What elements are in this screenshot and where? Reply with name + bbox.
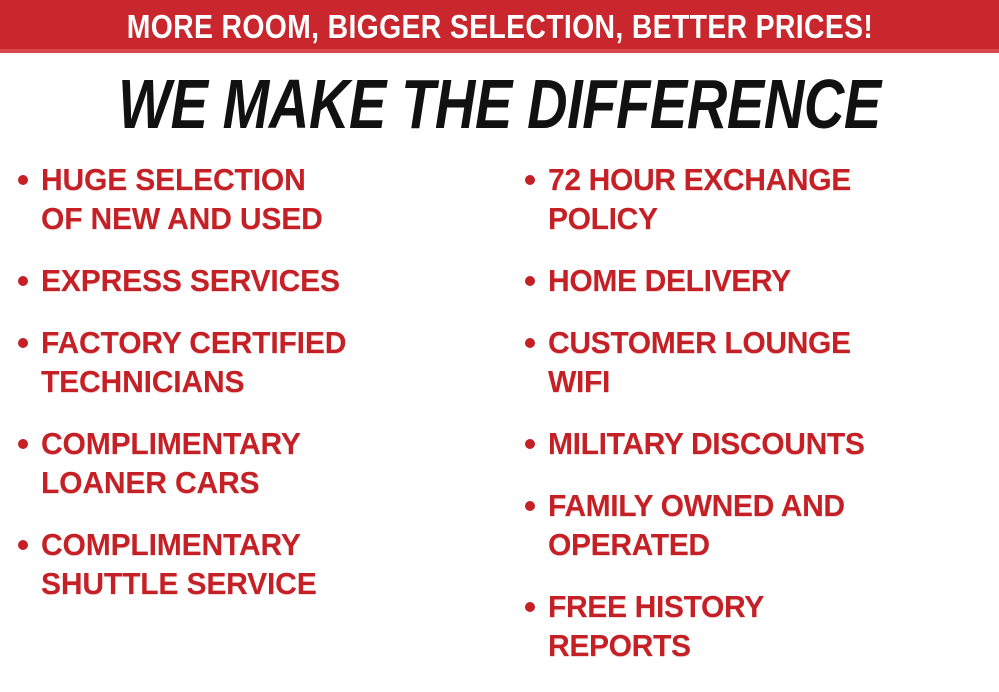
page-title: WE MAKE THE DIFFERENCE — [100, 69, 899, 139]
list-item-label: HUGE SELECTION OF NEW AND USED — [41, 160, 323, 238]
round-bullet-icon — [525, 501, 535, 511]
list-item: HUGE SELECTION OF NEW AND USED — [18, 160, 513, 238]
list-item-label: 72 HOUR EXCHANGE POLICY — [548, 160, 851, 238]
promotional-banner: MORE ROOM, BIGGER SELECTION, BETTER PRIC… — [0, 0, 999, 692]
list-item-label: CUSTOMER LOUNGE WIFI — [548, 323, 851, 401]
round-bullet-icon — [18, 276, 28, 286]
round-bullet-icon — [18, 439, 28, 449]
list-item-label: FAMILY OWNED AND OPERATED — [548, 486, 845, 564]
list-item-label: COMPLIMENTARY LOANER CARS — [41, 424, 301, 502]
round-bullet-icon — [18, 540, 28, 550]
list-item: HOME DELIVERY — [525, 261, 999, 300]
list-item: CUSTOMER LOUNGE WIFI — [525, 323, 999, 401]
list-item: COMPLIMENTARY LOANER CARS — [18, 424, 513, 502]
ribbon-bottom-edge — [0, 49, 999, 53]
round-bullet-icon — [18, 175, 28, 185]
list-item: FAMILY OWNED AND OPERATED — [525, 486, 999, 564]
promo-ribbon: MORE ROOM, BIGGER SELECTION, BETTER PRIC… — [0, 0, 999, 53]
round-bullet-icon — [525, 276, 535, 286]
round-bullet-icon — [525, 338, 535, 348]
list-item-label: EXPRESS SERVICES — [41, 261, 340, 300]
benefits-column-right: 72 HOUR EXCHANGE POLICY HOME DELIVERY CU… — [513, 160, 999, 692]
promo-ribbon-text: MORE ROOM, BIGGER SELECTION, BETTER PRIC… — [126, 10, 872, 43]
list-item-label: FREE HISTORY REPORTS — [548, 587, 764, 665]
benefits-columns: HUGE SELECTION OF NEW AND USED EXPRESS S… — [0, 160, 999, 692]
list-item: COMPLIMENTARY SHUTTLE SERVICE — [18, 525, 513, 603]
list-item: FACTORY CERTIFIED TECHNICIANS — [18, 323, 513, 401]
list-item: EXPRESS SERVICES — [18, 261, 513, 300]
round-bullet-icon — [525, 175, 535, 185]
list-item-label: FACTORY CERTIFIED TECHNICIANS — [41, 323, 346, 401]
benefits-column-left: HUGE SELECTION OF NEW AND USED EXPRESS S… — [0, 160, 513, 692]
round-bullet-icon — [525, 602, 535, 612]
list-item: MILITARY DISCOUNTS — [525, 424, 999, 463]
list-item-label: MILITARY DISCOUNTS — [548, 424, 865, 463]
list-item: FREE HISTORY REPORTS — [525, 587, 999, 665]
round-bullet-icon — [525, 439, 535, 449]
list-item-label: HOME DELIVERY — [548, 261, 791, 300]
list-item: 72 HOUR EXCHANGE POLICY — [525, 160, 999, 238]
round-bullet-icon — [18, 338, 28, 348]
list-item-label: COMPLIMENTARY SHUTTLE SERVICE — [41, 525, 317, 603]
